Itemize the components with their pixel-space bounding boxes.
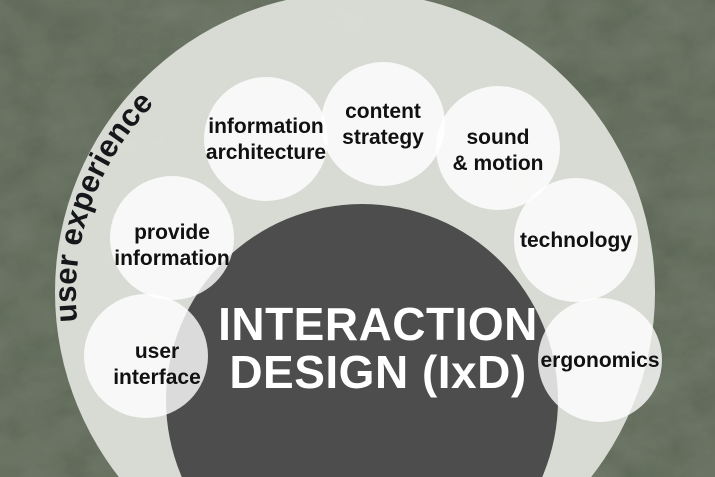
svg-text:ergonomics: ergonomics: [540, 349, 659, 372]
center-title: INTERACTION DESIGN (IxD): [218, 298, 538, 398]
svg-text:user: user: [135, 340, 179, 363]
svg-text:information: information: [114, 247, 230, 270]
svg-text:& motion: & motion: [453, 152, 544, 175]
diagram-canvas: user experience information architecture…: [0, 0, 715, 477]
bubble-information-architecture[interactable]: [204, 77, 328, 201]
svg-text:sound: sound: [467, 126, 530, 149]
label-technology: technology: [520, 229, 632, 252]
svg-text:technology: technology: [520, 229, 632, 252]
bubble-content-strategy[interactable]: [321, 62, 445, 186]
center-title-line1: INTERACTION: [218, 298, 538, 350]
svg-text:provide: provide: [134, 221, 210, 244]
center-title-line2: DESIGN (IxD): [229, 346, 526, 398]
venn-diagram-svg: user experience information architecture…: [0, 0, 715, 477]
svg-text:interface: interface: [113, 366, 201, 389]
svg-text:strategy: strategy: [342, 126, 424, 149]
svg-text:content: content: [345, 100, 421, 123]
svg-text:architecture: architecture: [206, 141, 326, 164]
label-ergonomics: ergonomics: [540, 349, 659, 372]
svg-text:information: information: [208, 115, 324, 138]
